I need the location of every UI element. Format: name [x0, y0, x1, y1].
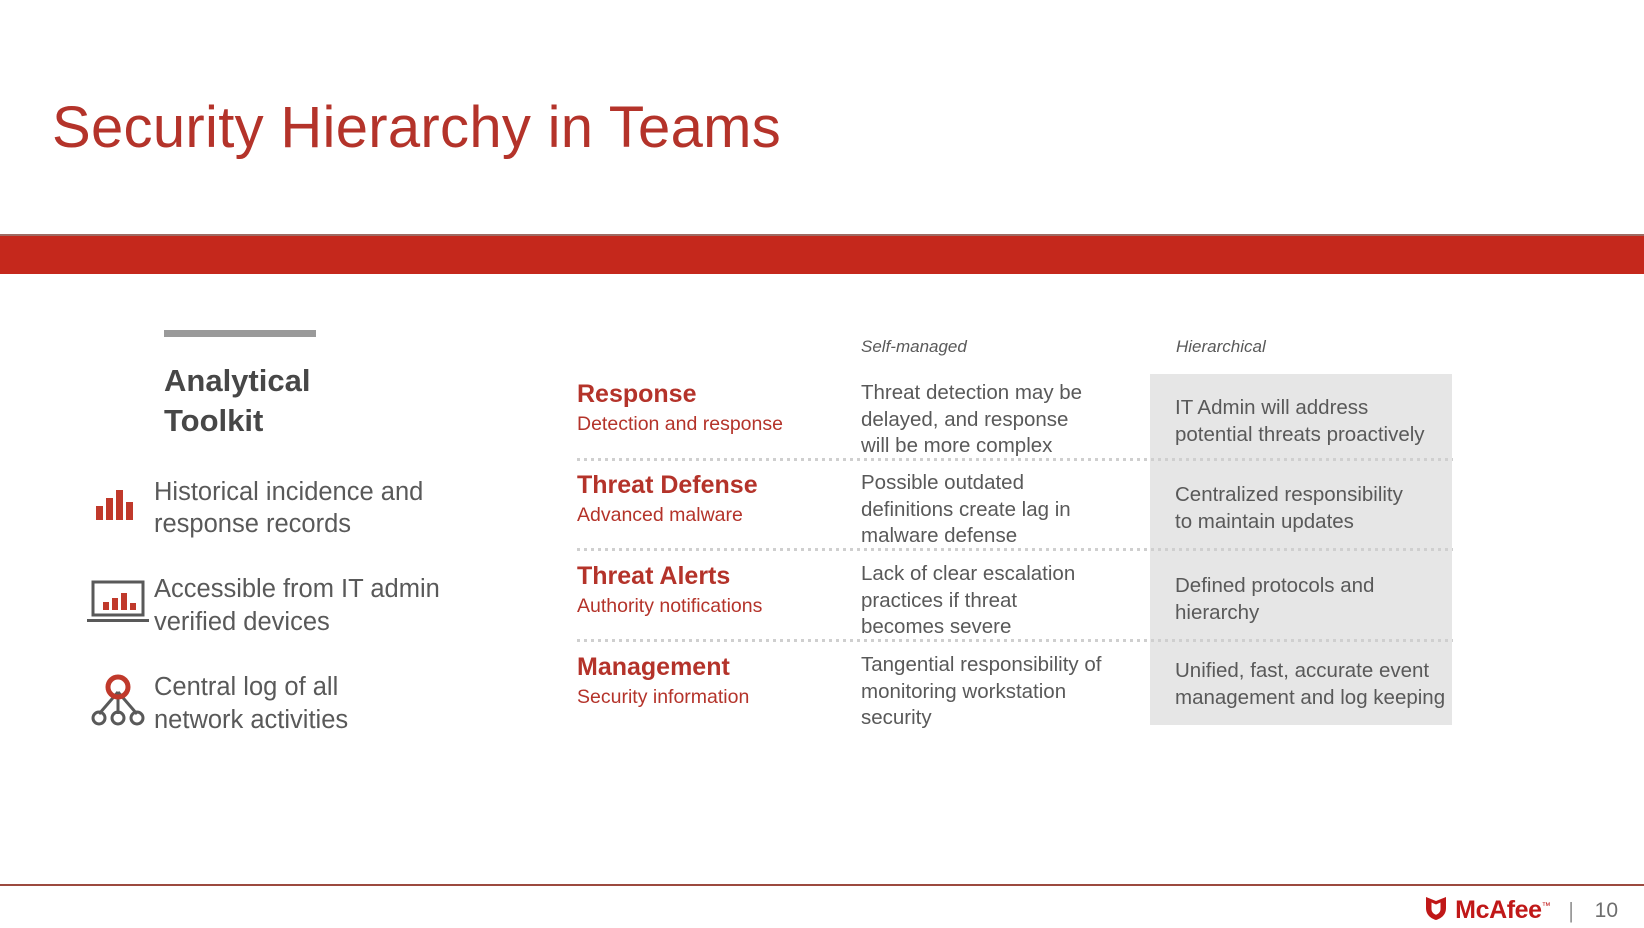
slide-footer: McAfee™ | 10	[1424, 895, 1618, 926]
row-self-managed-cell: Lack of clear escalation practices if th…	[861, 561, 1131, 641]
row-title: Threat Alerts	[577, 562, 842, 591]
footer-rule	[0, 884, 1644, 886]
mcafee-logo: McAfee™	[1424, 895, 1550, 926]
row-self-managed-cell: Tangential responsibility of monitoring …	[861, 652, 1131, 732]
mcafee-wordmark: McAfee™	[1455, 898, 1550, 923]
row-hierarchical-cell: Defined protocols and hierarchy	[1175, 573, 1460, 626]
row-self-managed-cell: Threat detection may be delayed, and res…	[861, 380, 1131, 460]
slide-canvas: Security Hierarchy in Teams Analytical T…	[0, 0, 1644, 928]
row-label-cell: Threat Alerts Authority notifications	[577, 562, 842, 619]
row-divider	[577, 639, 1453, 642]
row-self-managed-cell: Possible outdated definitions create lag…	[861, 470, 1131, 550]
row-label-cell: Response Detection and response	[577, 380, 842, 437]
footer-separator: |	[1562, 900, 1580, 922]
row-title: Response	[577, 380, 842, 409]
mcafee-shield-icon	[1424, 895, 1448, 926]
row-label-cell: Threat Defense Advanced malware	[577, 471, 842, 528]
row-subtitle: Authority notifications	[577, 594, 842, 619]
row-title: Threat Defense	[577, 471, 842, 500]
row-hierarchical-cell: Centralized responsibility to maintain u…	[1175, 482, 1460, 535]
row-label-cell: Management Security information	[577, 653, 842, 710]
row-subtitle: Detection and response	[577, 412, 842, 437]
row-subtitle: Advanced malware	[577, 503, 842, 528]
row-subtitle: Security information	[577, 685, 842, 710]
comparison-table: Response Detection and response Threat d…	[0, 0, 1644, 928]
row-hierarchical-cell: Unified, fast, accurate event management…	[1175, 658, 1460, 711]
row-divider	[577, 548, 1453, 551]
row-hierarchical-cell: IT Admin will address potential threats …	[1175, 395, 1460, 448]
trademark-symbol: ™	[1542, 901, 1551, 911]
row-title: Management	[577, 653, 842, 682]
page-number: 10	[1592, 900, 1618, 921]
row-divider	[577, 458, 1453, 461]
mcafee-brand-text: McAfee	[1455, 896, 1542, 924]
